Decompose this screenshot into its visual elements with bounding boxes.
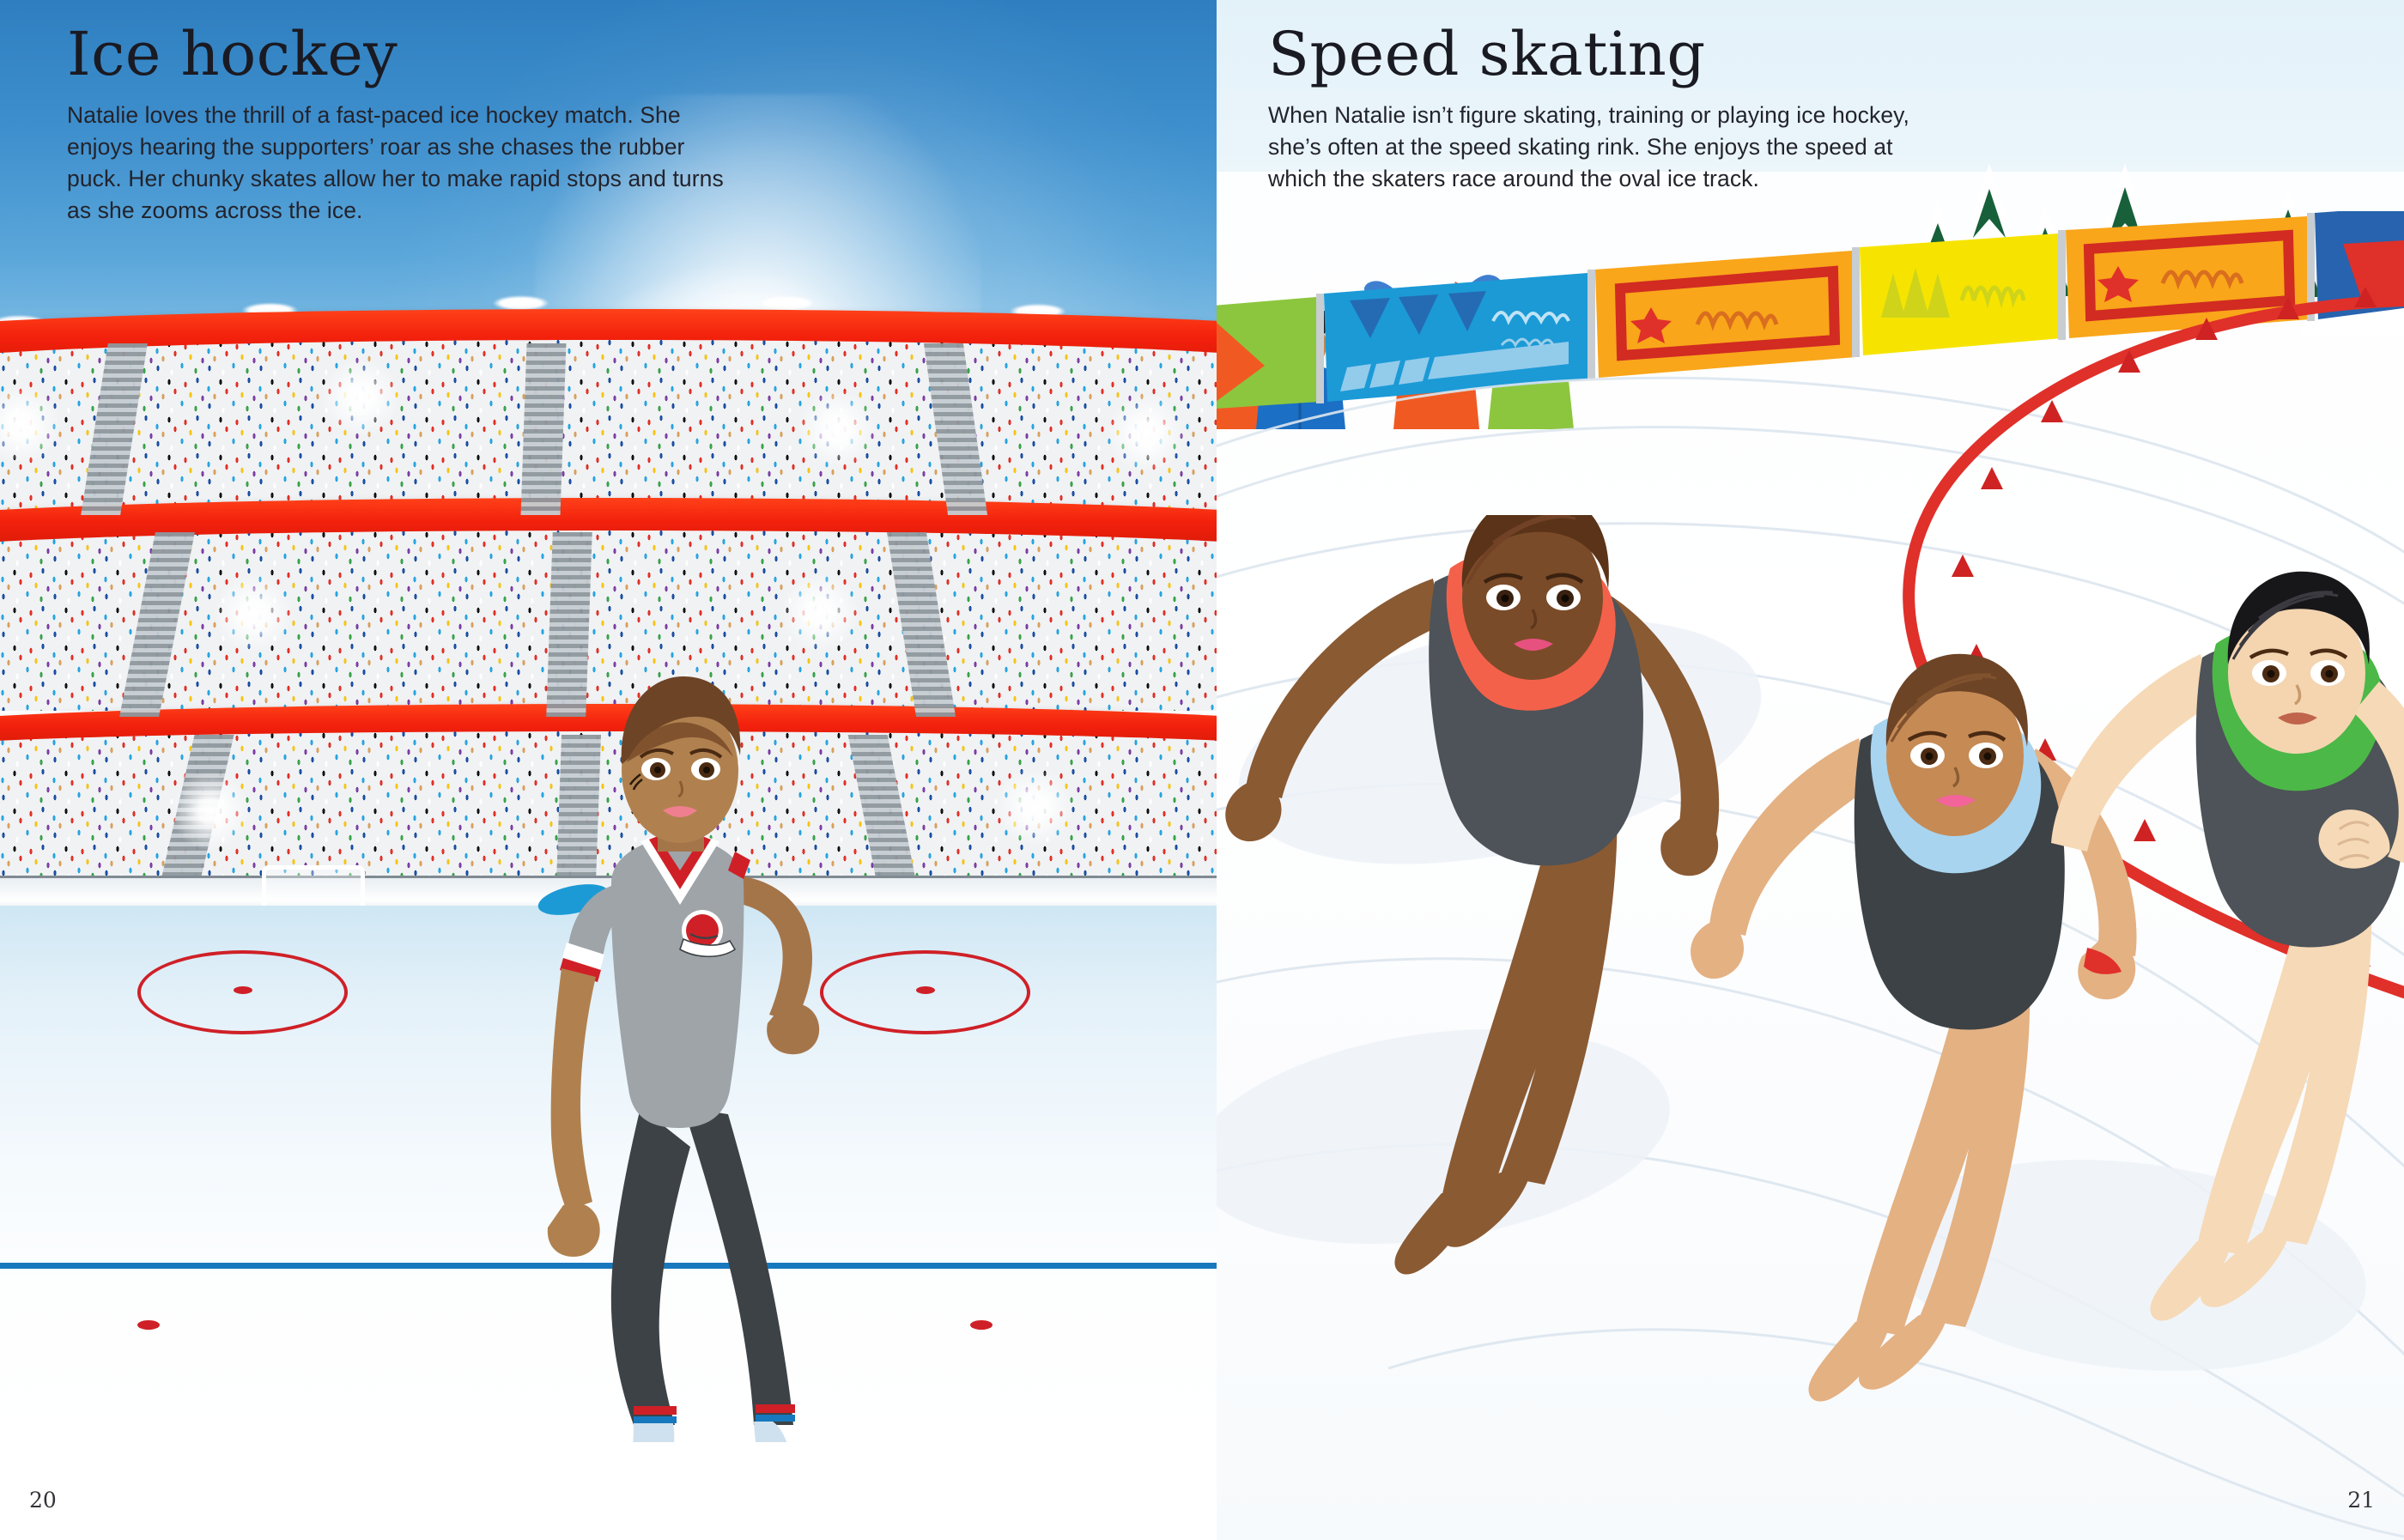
neutral-dot-right <box>970 1320 993 1330</box>
book-spread: Ice hockey Natalie loves the thrill of a… <box>0 0 2404 1540</box>
body-paragraph: Natalie loves the thrill of a fast-paced… <box>67 100 745 227</box>
arena-spotlight-icon <box>1108 395 1185 472</box>
arena-spotlight-icon <box>996 768 1073 846</box>
arena-spotlight-icon <box>322 359 399 436</box>
hockey-player-natalie <box>481 661 841 1442</box>
skater-blue-bib <box>1691 654 2136 1402</box>
stairway <box>521 343 567 515</box>
page-title: Speed skating <box>1268 19 1955 89</box>
neutral-dot-left <box>137 1320 160 1330</box>
speed-skaters-group <box>1217 515 2404 1540</box>
left-page-text-block: Ice hockey Natalie loves the thrill of a… <box>67 19 745 227</box>
body-paragraph: When Natalie isn’t figure skating, train… <box>1268 100 1955 195</box>
crowd-tier-upper <box>0 340 1217 512</box>
page-number-left: 20 <box>29 1488 57 1513</box>
page-number-right: 21 <box>2347 1488 2375 1513</box>
arena-spotlight-icon <box>798 391 876 468</box>
faceoff-dot-right <box>916 986 935 994</box>
arena-spotlight-icon <box>172 773 249 850</box>
arena-spotlight-icon <box>781 573 859 651</box>
arena-spotlight-icon <box>215 575 292 652</box>
faceoff-dot-left <box>234 986 252 994</box>
right-page-text-block: Speed skating When Natalie isn’t figure … <box>1268 19 1955 195</box>
skater-orange-bib <box>1225 515 1719 1275</box>
left-page: Ice hockey Natalie loves the thrill of a… <box>0 0 1217 1540</box>
page-title: Ice hockey <box>67 19 745 89</box>
right-page: Speed skating When Natalie isn’t figure … <box>1217 0 2404 1540</box>
